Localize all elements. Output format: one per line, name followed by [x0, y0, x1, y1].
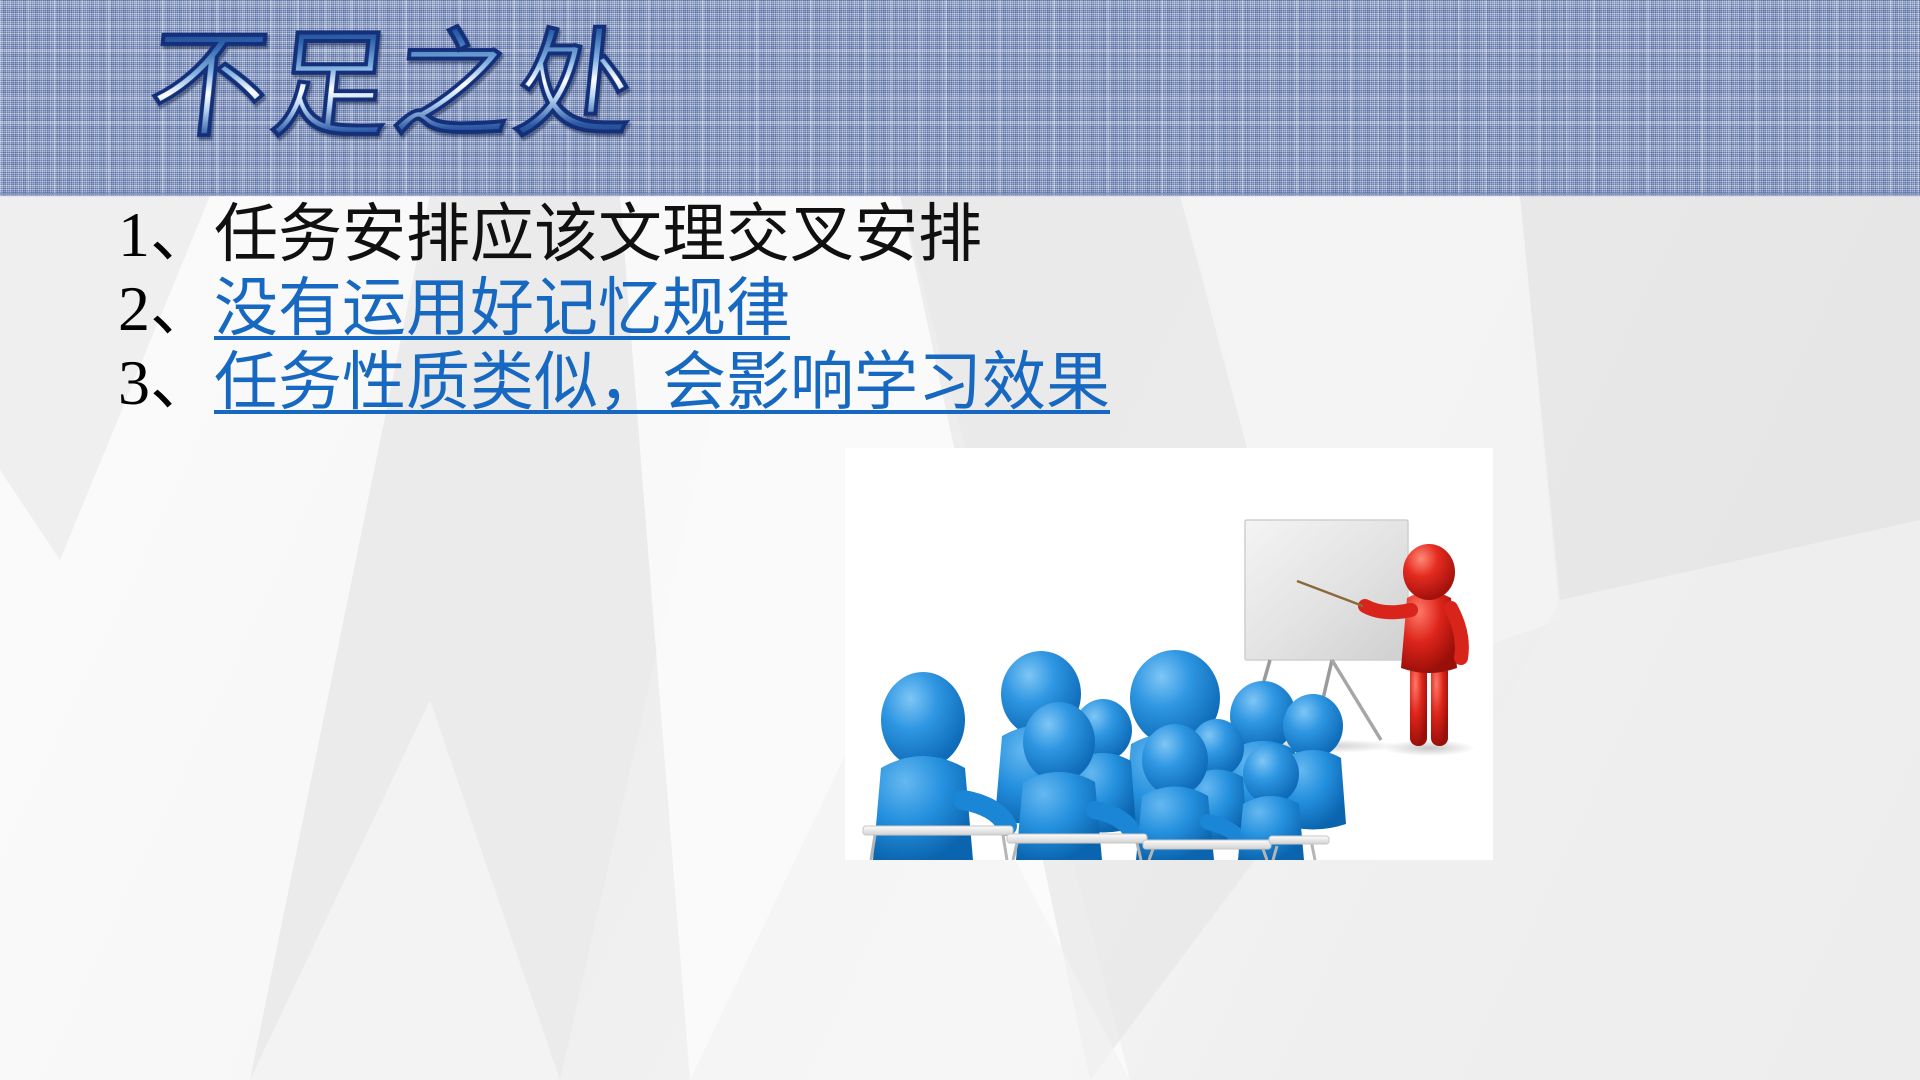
- list-item: 3、任务性质类似，会影响学习效果: [118, 346, 1438, 420]
- slide: 不足之处 不足之处 1、任务安排应该文理交叉安排 2、没有运用好记忆规律 3、任…: [0, 0, 1920, 1080]
- list-item: 1、任务安排应该文理交叉安排: [118, 198, 1438, 272]
- page-title: 不足之处: [144, 28, 644, 146]
- list-item-text: 任务安排应该文理交叉安排: [214, 199, 982, 270]
- list-item-number: 3、: [118, 347, 214, 418]
- list-item-number: 1、: [118, 199, 214, 270]
- list-item-hyperlink[interactable]: 任务性质类似，会影响学习效果: [214, 347, 1110, 418]
- classroom-image[interactable]: [845, 448, 1493, 860]
- list-item-hyperlink[interactable]: 没有运用好记忆规律: [214, 273, 790, 344]
- title-container: 不足之处 不足之处: [150, 12, 638, 162]
- list-item: 2、没有运用好记忆规律: [118, 272, 1438, 346]
- classroom-illustration: [845, 448, 1493, 860]
- list-item-number: 2、: [118, 273, 214, 344]
- bullet-list: 1、任务安排应该文理交叉安排 2、没有运用好记忆规律 3、任务性质类似，会影响学…: [118, 198, 1438, 420]
- header-bottom-edge: [0, 193, 1920, 197]
